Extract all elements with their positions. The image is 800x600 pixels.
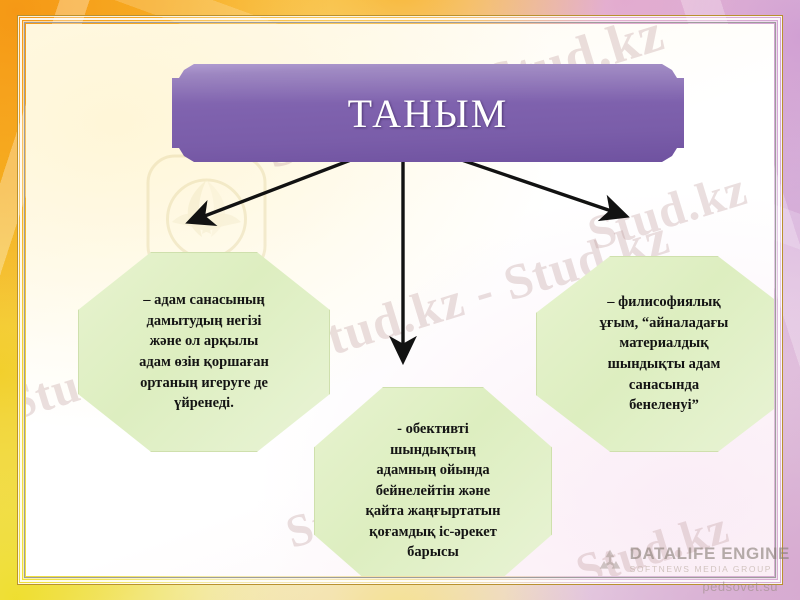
diagram-node-right[interactable]: – филисофиялық ұғым, “айналадағы материа… [536, 256, 774, 452]
diagram-node-left-text: – адам санасының дамытудың негізі және о… [102, 290, 307, 413]
watermark-text: Stud.kz [570, 500, 735, 576]
title-banner: ТАНЫМ [172, 64, 684, 162]
diagram-node-right-text: – филисофиялық ұғым, “айналадағы материа… [561, 292, 767, 415]
slide-content-area: Stud.kz - Stud.kz Stud.kz - Stud.kz Stud… [26, 24, 774, 576]
diagram-node-center[interactable]: - обективті шындықтың адамның ойында бей… [314, 387, 552, 576]
watermark-text: Stud.kz [582, 161, 754, 261]
slide-canvas: Stud.kz - Stud.kz Stud.kz - Stud.kz Stud… [0, 0, 800, 600]
diagram-node-left[interactable]: – адам санасының дамытудың негізі және о… [78, 252, 330, 452]
page-title: ТАНЫМ [348, 90, 509, 137]
diagram-node-center-text: - обективті шындықтың адамның ойында бей… [333, 419, 533, 563]
